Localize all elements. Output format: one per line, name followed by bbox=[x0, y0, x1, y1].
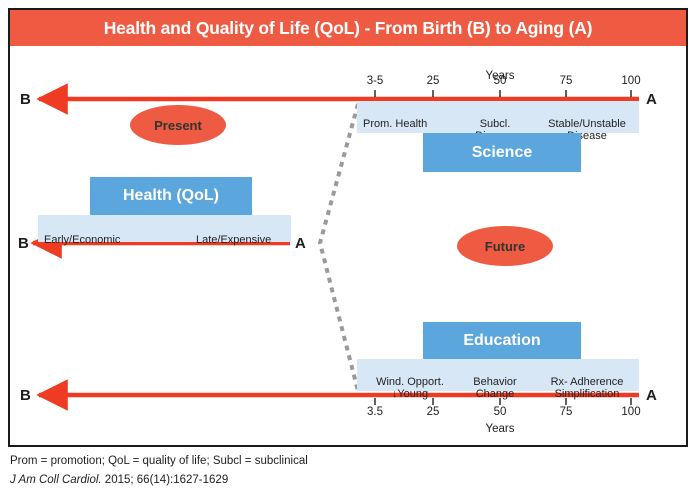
figure-title-bar: Health and Quality of Life (QoL) - From … bbox=[10, 10, 686, 46]
education-box-label: Education bbox=[463, 332, 540, 350]
science-tick-3: 75 bbox=[560, 75, 573, 87]
present-stage-late: Late/Expensive bbox=[196, 221, 306, 246]
footnote-abbreviations-text: Prom = promotion; QoL = quality of life;… bbox=[10, 455, 308, 467]
education-stage-window-opportunity: Wind. Opport. ↓Young bbox=[360, 363, 460, 401]
science-stage-prom-health: Prom. Health bbox=[363, 105, 463, 130]
science-tick-1: 25 bbox=[427, 75, 440, 87]
footnote-citation-journal: J Am Coll Cardiol. bbox=[10, 474, 102, 486]
footnote-citation: J Am Coll Cardiol. 2015; 66(14):1627-162… bbox=[10, 474, 690, 486]
science-tick-4: 100 bbox=[621, 75, 640, 87]
health-qol-box-label: Health (QoL) bbox=[123, 187, 219, 205]
present-stage-early-text: Early/Economic bbox=[44, 234, 120, 246]
education-tick-1: 25 bbox=[427, 406, 440, 418]
present-oval-label: Present bbox=[154, 118, 202, 133]
education-axis-title-text: Years bbox=[486, 423, 515, 435]
science-axis-ticks bbox=[375, 90, 631, 97]
education-endpoint-a: A bbox=[646, 387, 657, 404]
education-tick-0: 3.5 bbox=[367, 406, 383, 418]
present-stage-late-text: Late/Expensive bbox=[196, 234, 271, 246]
education-tick-2: 50 bbox=[494, 406, 507, 418]
present-endpoint-b-label: B bbox=[18, 235, 29, 252]
figure-canvas: Present Health (QoL) Early/Economic Late… bbox=[10, 46, 686, 447]
future-oval: Future bbox=[457, 226, 553, 266]
science-endpoint-b-label: B bbox=[20, 91, 31, 108]
education-endpoint-a-label: A bbox=[646, 387, 657, 404]
education-stage-behavior-change: Behavior Change bbox=[450, 363, 540, 401]
dashed-connector-line bbox=[320, 104, 358, 391]
figure-frame: Health and Quality of Life (QoL) - From … bbox=[8, 8, 688, 447]
science-box-label: Science bbox=[472, 144, 532, 162]
present-stage-early: Early/Economic bbox=[44, 221, 164, 246]
footnote-citation-rest: 2015; 66(14):1627-1629 bbox=[102, 474, 229, 486]
education-axis-title: Years bbox=[486, 423, 515, 435]
science-endpoint-b: B bbox=[20, 91, 31, 108]
education-tick-4: 100 bbox=[621, 406, 640, 418]
science-box: Science bbox=[423, 133, 581, 172]
footnote-abbreviations: Prom = promotion; QoL = quality of life;… bbox=[10, 455, 690, 467]
present-endpoint-a: A bbox=[295, 235, 306, 252]
education-endpoint-b-label: B bbox=[20, 387, 31, 404]
science-endpoint-a-label: A bbox=[646, 91, 657, 108]
science-endpoint-a: A bbox=[646, 91, 657, 108]
education-tick-3: 75 bbox=[560, 406, 573, 418]
science-tick-2: 50 bbox=[494, 75, 507, 87]
education-box: Education bbox=[423, 322, 581, 360]
present-oval: Present bbox=[130, 105, 226, 145]
present-endpoint-a-label: A bbox=[295, 235, 306, 252]
education-stage-rx-adherence: Rx- Adherence Simplification bbox=[528, 363, 646, 401]
future-oval-label: Future bbox=[485, 239, 525, 254]
page-title: Health and Quality of Life (QoL) - From … bbox=[104, 18, 593, 39]
science-tick-0: 3-5 bbox=[367, 75, 384, 87]
education-endpoint-b: B bbox=[20, 387, 31, 404]
present-endpoint-b: B bbox=[18, 235, 29, 252]
health-qol-box: Health (QoL) bbox=[90, 177, 252, 215]
